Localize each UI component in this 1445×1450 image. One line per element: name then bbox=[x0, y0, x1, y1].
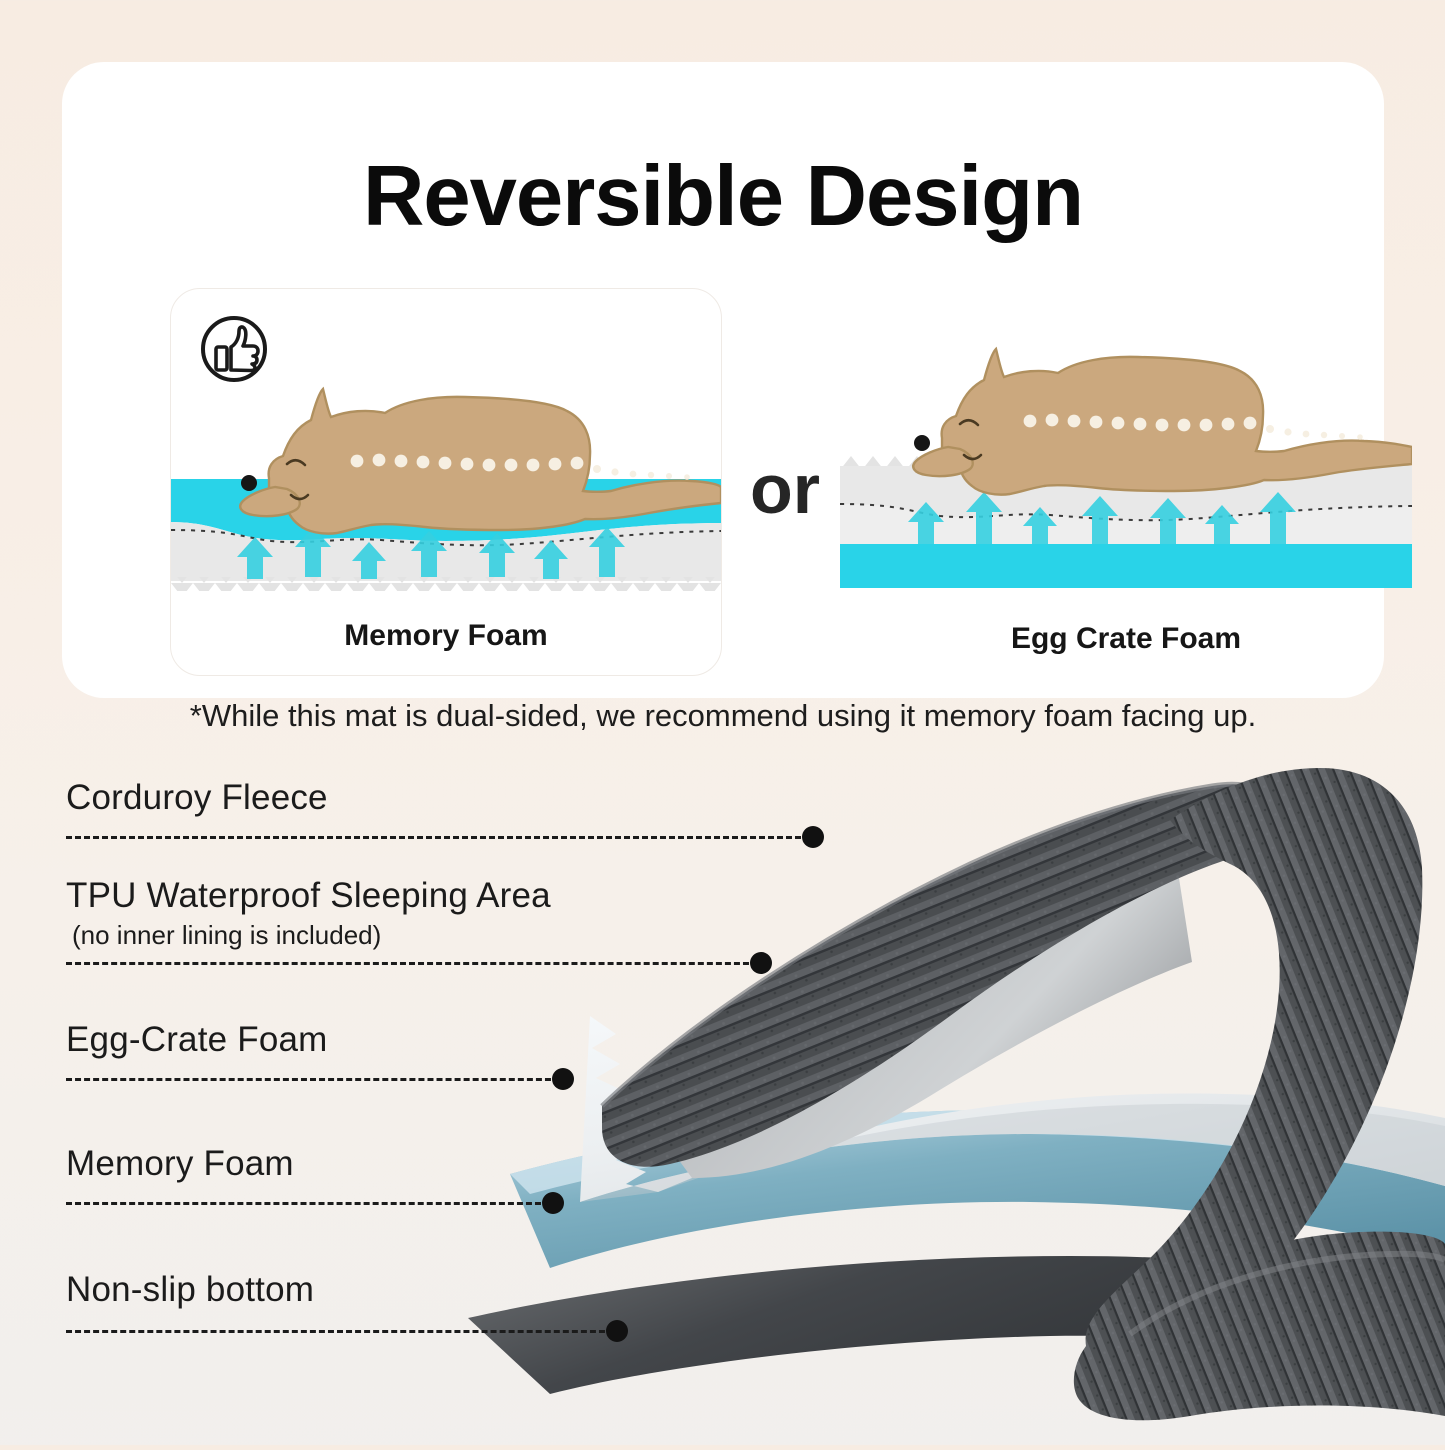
layer-label-tpu-waterproof: TPU Waterproof Sleeping Area bbox=[66, 876, 551, 916]
layer-sublabel-tpu-waterproof: (no inner lining is included) bbox=[72, 920, 381, 951]
reversible-design-card: Reversible Design bbox=[62, 62, 1384, 698]
layer-label-non-slip-bottom: Non-slip bottom bbox=[66, 1270, 314, 1310]
leader-line-tpu-waterproof bbox=[66, 962, 758, 965]
egg-crate-scene bbox=[840, 288, 1412, 604]
dog-nose-2 bbox=[914, 435, 930, 451]
layer-label-egg-crate-foam: Egg-Crate Foam bbox=[66, 1020, 328, 1060]
dog-body-2 bbox=[942, 349, 1412, 495]
memory-foam-layer-2 bbox=[840, 544, 1412, 588]
dog-body bbox=[269, 389, 721, 534]
leader-line-memory-foam bbox=[66, 1202, 550, 1205]
product-exploded-photo bbox=[430, 716, 1445, 1445]
dog-nose bbox=[241, 475, 257, 491]
layer-label-corduroy-fleece: Corduroy Fleece bbox=[66, 778, 328, 818]
product-photo-svg bbox=[430, 716, 1445, 1445]
dog-illustration bbox=[240, 389, 721, 534]
infographic-root: Reversible Design bbox=[0, 0, 1445, 1445]
egg-crate-diagram bbox=[840, 288, 1412, 604]
leader-dot-egg-crate-foam bbox=[552, 1068, 574, 1090]
dog-illustration-2 bbox=[913, 349, 1412, 495]
thumbs-up-icon bbox=[198, 313, 270, 385]
panel-memory-foam: Memory Foam bbox=[170, 288, 722, 676]
page-title: Reversible Design bbox=[62, 154, 1384, 239]
or-separator: or bbox=[730, 454, 840, 524]
panel-egg-crate-foam: Egg Crate Foam bbox=[840, 288, 1412, 674]
leader-line-egg-crate-foam bbox=[66, 1078, 560, 1081]
egg-crate-zigzag bbox=[171, 577, 721, 591]
dog-muzzle-2 bbox=[913, 447, 973, 476]
layer-label-memory-foam: Memory Foam bbox=[66, 1144, 294, 1184]
leader-dot-corduroy-fleece bbox=[802, 826, 824, 848]
leader-dot-tpu-waterproof bbox=[750, 952, 772, 974]
leader-dot-non-slip-bottom bbox=[606, 1320, 628, 1342]
leader-line-non-slip-bottom bbox=[66, 1330, 614, 1333]
leader-dot-memory-foam bbox=[542, 1192, 564, 1214]
panel-caption-egg-crate-foam: Egg Crate Foam bbox=[840, 622, 1412, 656]
panel-caption-memory-foam: Memory Foam bbox=[171, 619, 721, 653]
leader-line-corduroy-fleece bbox=[66, 836, 810, 839]
